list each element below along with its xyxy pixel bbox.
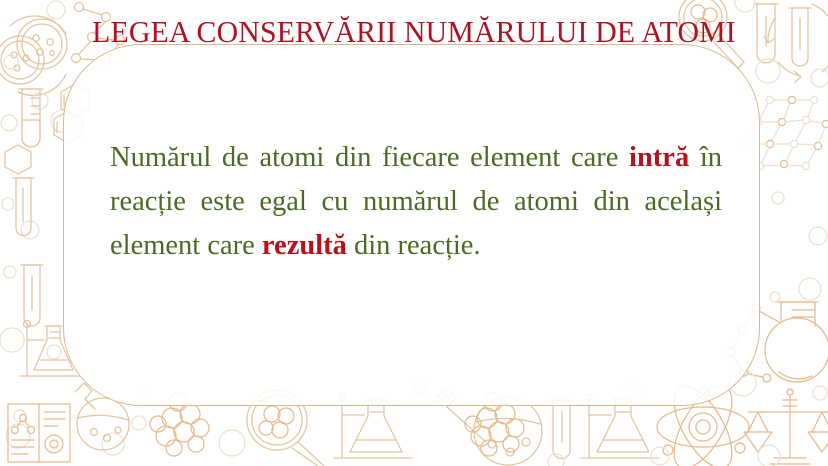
test-tube-graduated-icon bbox=[19, 89, 43, 147]
body-segment-1: Numărul de atomi din fiecare element car… bbox=[110, 142, 629, 173]
highlight-intra: intră bbox=[629, 142, 689, 173]
book-molecule-icon bbox=[8, 404, 70, 462]
page-title: LEGEA CONSERVĂRII NUMĂRULUI DE ATOMI bbox=[17, 13, 812, 51]
highlight-rezulta: rezultă bbox=[262, 230, 347, 261]
balance-scale-icon bbox=[744, 389, 828, 464]
test-tube-icon bbox=[13, 178, 43, 326]
body-paragraph: Numărul de atomi din fiecare element car… bbox=[110, 136, 722, 268]
slide-canvas: LEGEA CONSERVĂRII NUMĂRULUI DE ATOMI Num… bbox=[0, 0, 828, 466]
test-tube-icon bbox=[440, 400, 573, 461]
body-segment-3: din reacție. bbox=[347, 230, 481, 261]
